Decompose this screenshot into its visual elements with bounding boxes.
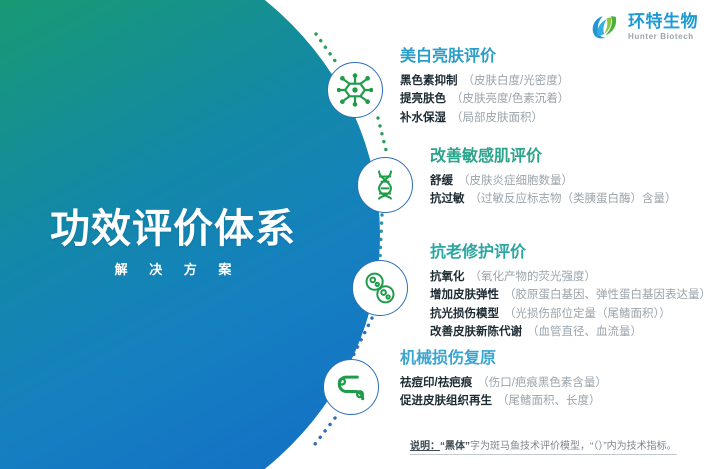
list-item: 补水保湿（局部皮肤面积） [400, 109, 569, 128]
item-metric: （尾鳍面积、长度） [497, 395, 601, 407]
logo-text-cn: 环特生物 [628, 13, 698, 30]
list-item: 增加皮肤弹性（胶原蛋白基因、弹性蛋白基因表达量） [430, 286, 711, 305]
item-term: 抗氧化 [430, 271, 465, 283]
item-term: 改善皮肤新陈代谢 [430, 326, 522, 338]
item-metric: （胶原蛋白基因、弹性蛋白基因表达量） [504, 289, 711, 301]
page-subtitle: 解 决 方 案 [18, 259, 328, 278]
list-item: 祛痘印/祛疤痕（伤口/疤痕黑色素含量） [400, 374, 607, 393]
section-block-sensitive-skin: 改善敏感肌评价 舒缓（皮肤炎症细胞数量） 抗过敏（过敏反应标志物（类胰蛋白酶）含… [430, 148, 677, 209]
item-term: 促进皮肤组织再生 [400, 395, 492, 407]
item-metric: （局部皮肤面积） [451, 112, 543, 124]
item-term: 黑色素抑制 [400, 75, 458, 87]
list-item: 舒缓（皮肤炎症细胞数量） [430, 172, 677, 191]
section-block-whitening: 美白亮肤评价 黑色素抑制（皮肤白度/光密度） 提亮肤色（皮肤亮度/色素沉着） 补… [400, 48, 569, 127]
item-term: 增加皮肤弹性 [430, 289, 499, 301]
section-heading-whitening: 美白亮肤评价 [400, 48, 569, 66]
item-term: 抗光损伤模型 [430, 308, 499, 320]
molecule-icon [337, 72, 373, 108]
list-item: 提亮肤色（皮肤亮度/色素沉着） [400, 90, 569, 109]
section-block-mechanical-repair: 机械损伤复原 祛痘印/祛疤痕（伤口/疤痕黑色素含量） 促进皮肤组织再生（尾鳍面积… [400, 350, 607, 411]
item-metric: （氧化产物的荧光强度） [470, 271, 597, 283]
footnote-rest: 字为斑马鱼技术评价模型，“（）”内为技术指标。 [470, 441, 677, 452]
item-metric: （皮肤亮度/色素沉着） [451, 93, 569, 105]
list-item: 抗氧化（氧化产物的荧光强度） [430, 268, 711, 287]
list-item: 抗过敏（过敏反应标志物（类胰蛋白酶）含量） [430, 190, 677, 209]
footnote: 说明：“黑体”字为斑马鱼技术评价模型，“（）”内为技术指标。 [410, 437, 677, 455]
item-metric: （皮肤白度/光密度） [463, 75, 570, 87]
list-item: 促进皮肤组织再生（尾鳍面积、长度） [400, 392, 607, 411]
logo-text-en: Hunter Biotech [628, 33, 698, 41]
item-metric: （皮肤炎症细胞数量） [458, 175, 573, 187]
item-metric: （过敏反应标志物（类胰蛋白酶）含量） [470, 193, 677, 205]
section-icon-anti-aging[interactable] [352, 260, 408, 316]
footnote-quoted: “黑体” [440, 441, 470, 452]
item-metric: （光损伤部位定量（尾鳍面积）） [504, 308, 671, 320]
list-item: 改善皮肤新陈代谢（血管直径、血流量） [430, 323, 711, 342]
section-heading-sensitive-skin: 改善敏感肌评价 [430, 148, 677, 166]
item-term: 祛痘印/祛疤痕 [400, 377, 472, 389]
item-term: 舒缓 [430, 175, 453, 187]
footnote-label: 说明： [410, 441, 440, 452]
item-metric: （血管直径、血流量） [527, 326, 642, 338]
section-heading-mechanical-repair: 机械损伤复原 [400, 350, 607, 368]
list-item: 抗光损伤模型（光损伤部位定量（尾鳍面积）） [430, 305, 711, 324]
section-icon-mechanical-repair[interactable] [323, 359, 379, 415]
bandage-link-icon [333, 369, 369, 405]
item-term: 提亮肤色 [400, 93, 446, 105]
item-metric: （伤口/疤痕黑色素含量） [477, 377, 607, 389]
dna-helix-icon [368, 168, 402, 202]
list-item: 黑色素抑制（皮肤白度/光密度） [400, 72, 569, 91]
page-title: 功效评价体系 [18, 208, 328, 251]
hunter-biotech-leaf-swoosh-icon [588, 10, 622, 44]
section-heading-anti-aging: 抗老修护评价 [430, 244, 711, 262]
section-block-anti-aging: 抗老修护评价 抗氧化（氧化产物的荧光强度） 增加皮肤弹性（胶原蛋白基因、弹性蛋白… [430, 244, 711, 342]
item-term: 抗过敏 [430, 193, 465, 205]
brand-logo[interactable]: 环特生物 Hunter Biotech [588, 10, 698, 44]
slide-canvas: 功效评价体系 解 决 方 案 环特生物 Hunter Biotech [0, 0, 720, 469]
section-icon-sensitive-skin[interactable] [357, 157, 413, 213]
item-term: 补水保湿 [400, 112, 446, 124]
hero-text-group: 功效评价体系 解 决 方 案 [18, 208, 328, 278]
cell-division-icon [362, 270, 398, 306]
section-icon-whitening[interactable] [327, 62, 383, 118]
